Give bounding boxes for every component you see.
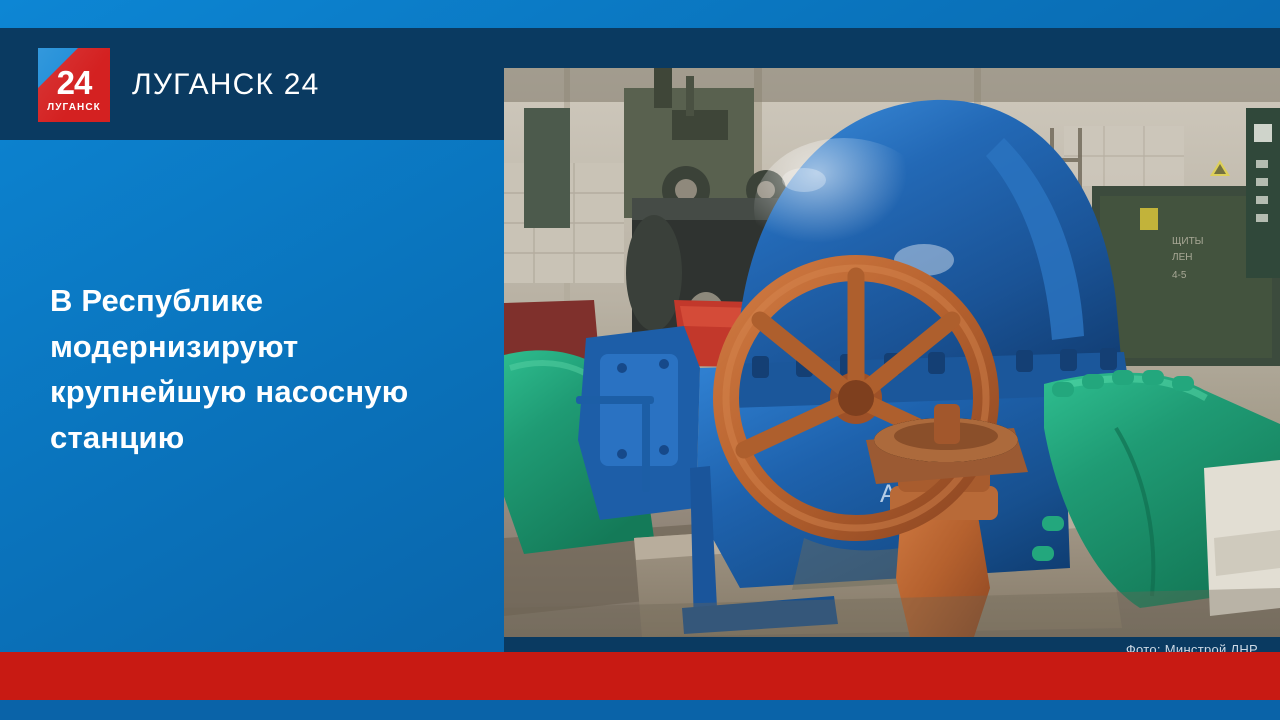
- brand-lockup[interactable]: 24 ЛУГАНСК ЛУГАНСК 24: [38, 48, 320, 122]
- accent-stripe-red: [0, 652, 1280, 700]
- pump-station-illustration: 6 ЩИТЫ ЛЕН 4-5: [504, 68, 1280, 637]
- brand-name: ЛУГАНСК 24: [132, 68, 320, 102]
- luhansk24-logo-icon[interactable]: 24 ЛУГАНСК: [38, 48, 110, 122]
- headline: В Республике модернизируют крупнейшую на…: [50, 278, 450, 460]
- news-card: 24 ЛУГАНСК ЛУГАНСК 24 В Республике модер…: [0, 0, 1280, 720]
- accent-stripe-blue: [0, 700, 1280, 720]
- svg-text:ЛЕН: ЛЕН: [1172, 252, 1192, 263]
- svg-text:4-5: 4-5: [1172, 270, 1187, 281]
- logo-city: ЛУГАНСК: [47, 103, 101, 113]
- logo-number: 24: [57, 66, 92, 99]
- news-photo: 6 ЩИТЫ ЛЕН 4-5: [504, 68, 1280, 637]
- svg-text:ЩИТЫ: ЩИТЫ: [1172, 236, 1204, 247]
